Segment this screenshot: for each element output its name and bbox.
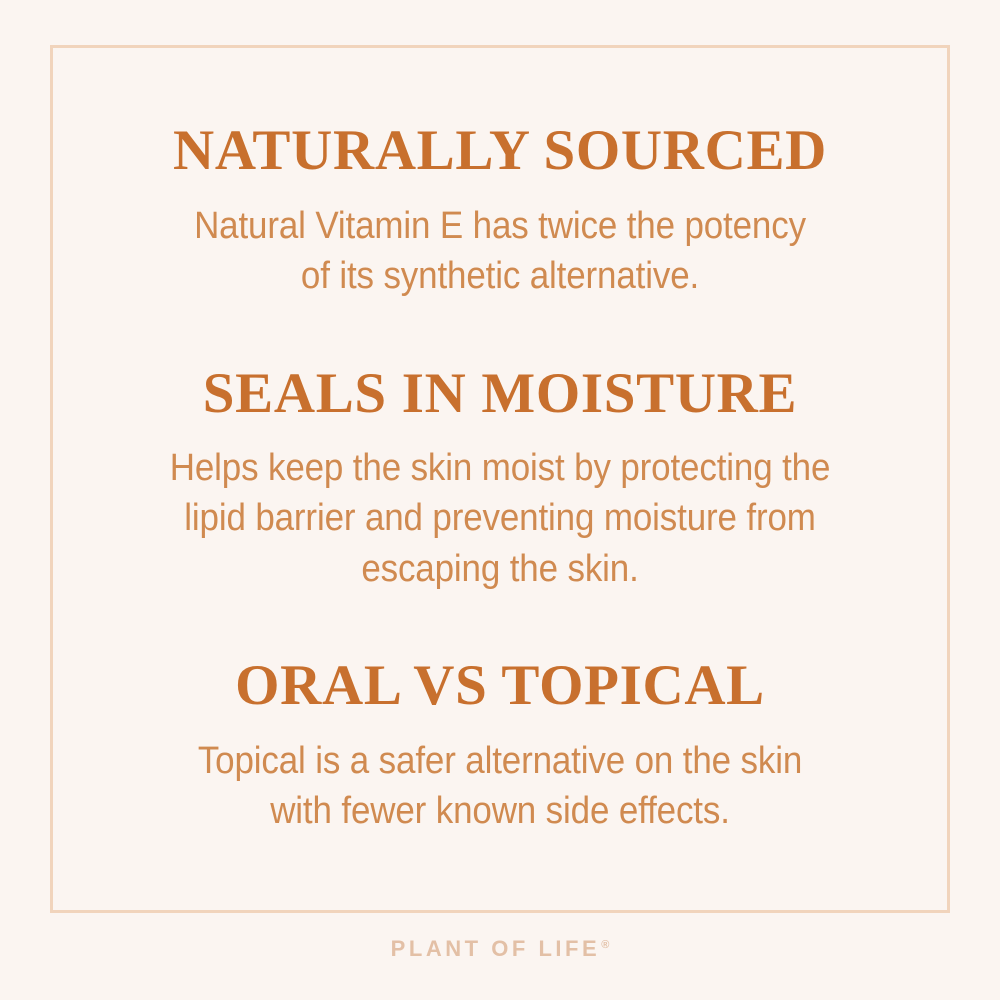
benefit-section-seals-in-moisture: SEALS IN MOISTURE Helps keep the skin mo… <box>90 364 910 595</box>
body-line: Topical is a safer alternative on the sk… <box>137 736 864 787</box>
section-heading-naturally-sourced: NATURALLY SOURCED <box>90 121 910 180</box>
body-line: Natural Vitamin E has twice the potency <box>137 201 864 252</box>
section-body-oral-vs-topical: Topical is a safer alternative on the sk… <box>137 736 864 837</box>
section-heading-seals-in-moisture: SEALS IN MOISTURE <box>90 364 910 423</box>
body-line: with fewer known side effects. <box>137 786 864 837</box>
poster-content: NATURALLY SOURCED Natural Vitamin E has … <box>50 45 950 913</box>
section-heading-oral-vs-topical: ORAL VS TOPICAL <box>90 656 910 715</box>
poster-canvas: NATURALLY SOURCED Natural Vitamin E has … <box>0 0 1000 1000</box>
brand-name-text: PLANT OF LIFE <box>391 936 601 961</box>
body-line: of its synthetic alternative. <box>137 251 864 302</box>
brand-logo-wordmark: PLANT OF LIFE® <box>0 938 1000 960</box>
registered-trademark-icon: ® <box>601 939 609 951</box>
section-body-naturally-sourced: Natural Vitamin E has twice the potency … <box>137 201 864 302</box>
body-line: lipid barrier and preventing moisture fr… <box>137 493 864 544</box>
benefit-section-naturally-sourced: NATURALLY SOURCED Natural Vitamin E has … <box>90 121 910 301</box>
section-body-seals-in-moisture: Helps keep the skin moist by protecting … <box>137 443 864 595</box>
body-line: escaping the skin. <box>137 544 864 595</box>
benefit-section-oral-vs-topical: ORAL VS TOPICAL Topical is a safer alter… <box>90 656 910 836</box>
body-line: Helps keep the skin moist by protecting … <box>137 443 864 494</box>
